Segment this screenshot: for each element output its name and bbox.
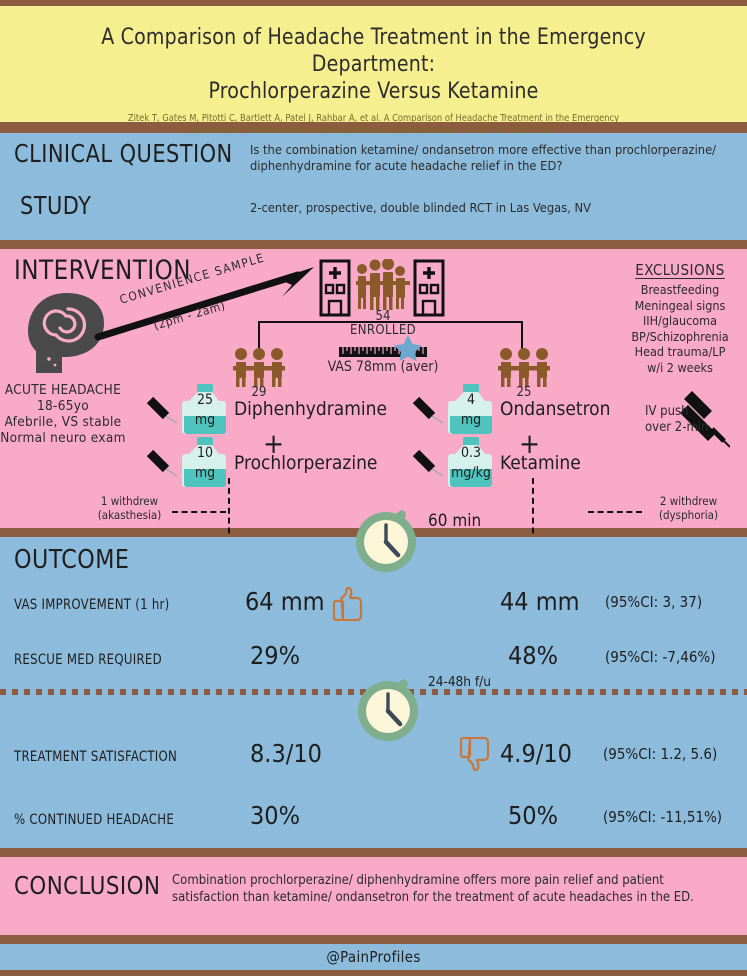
arm-left-people-icon bbox=[231, 347, 287, 387]
arm-left-drug1-unit: mg bbox=[182, 412, 228, 428]
poster-title: A Comparison of Headache Treatment in th… bbox=[15, 24, 732, 105]
arm-right-drug2-name: Ketamine bbox=[500, 452, 581, 474]
withdrew-right-line1: 2 withdrew bbox=[641, 494, 736, 508]
syringe-icon-right-1 bbox=[412, 396, 446, 424]
syringe-icon-left-2 bbox=[146, 449, 180, 477]
outcome-row-0-ci: (95%CI: 3, 37) bbox=[605, 593, 702, 611]
outcome-row-3-label: % CONTINUED HEADACHE bbox=[14, 812, 174, 828]
outcome-row-3-right-value: 50% bbox=[508, 801, 558, 830]
arm-right-people-icon bbox=[496, 347, 552, 387]
arm-right-drug2-dose: 0.3 bbox=[448, 445, 494, 461]
arm-left-drug2-dose: 10 bbox=[182, 445, 228, 461]
exclusions-list: Breastfeeding Meningeal signs IIH/glauco… bbox=[615, 282, 745, 375]
outcome-row-1-right-value: 48% bbox=[508, 641, 558, 670]
conclusion-text: Combination prochlorperazine/ diphenhydr… bbox=[172, 872, 732, 906]
connector-left-vertical bbox=[258, 321, 260, 349]
connector-right-vertical bbox=[521, 321, 523, 349]
patient-criteria-line2: 18-65yo bbox=[0, 398, 126, 414]
arm-right-drug2-unit: mg/kg bbox=[446, 465, 496, 481]
exclusion-item-2: IIH/glaucoma bbox=[615, 313, 745, 329]
outcome-heading: OUTCOME bbox=[14, 545, 129, 575]
outcome-row-2-ci: (95%CI: 1.2, 5.6) bbox=[603, 745, 717, 763]
outcome-row-0-left-value: 64 mm bbox=[245, 587, 325, 616]
enrolled-people-icon bbox=[354, 259, 412, 311]
withdrew-left-line1: 1 withdrew bbox=[82, 494, 177, 508]
study-heading: STUDY bbox=[20, 191, 91, 220]
thumbs-down-icon bbox=[457, 737, 495, 771]
followup-label: 24-48h f/u bbox=[428, 674, 491, 690]
patient-criteria-line3: Afebrile, VS stable bbox=[0, 414, 126, 430]
exclusion-item-0: Breastfeeding bbox=[615, 282, 745, 298]
clinical-question-heading: CLINICAL QUESTION bbox=[14, 139, 233, 168]
withdrew-right-dash bbox=[588, 511, 642, 513]
poster-title-line1: A Comparison of Headache Treatment in th… bbox=[44, 24, 704, 78]
vas-ruler-icon bbox=[337, 335, 429, 361]
patient-criteria-line4: Normal neuro exam bbox=[0, 430, 126, 446]
footer-handle: @PainProfiles bbox=[0, 944, 747, 970]
vas-average-label: VAS 78mm (aver) bbox=[318, 359, 448, 375]
exclusion-item-1: Meningeal signs bbox=[615, 298, 745, 314]
arm-left-drug2-unit: mg bbox=[182, 465, 228, 481]
connector-horizontal bbox=[258, 321, 523, 323]
footer-section: @PainProfiles bbox=[0, 944, 747, 970]
clinical-question-section: CLINICAL QUESTION Is the combination ket… bbox=[0, 133, 747, 240]
arm-right-drug1-name: Ondansetron bbox=[500, 398, 610, 420]
withdrew-right-label: 2 withdrew (dysphoria) bbox=[641, 494, 736, 522]
clinical-question-text: Is the combination ketamine/ ondansetron… bbox=[250, 143, 735, 175]
infographic-poster: A Comparison of Headache Treatment in th… bbox=[0, 0, 747, 976]
syringe-icon-right-2 bbox=[412, 449, 446, 477]
outcome-row-3-left-value: 30% bbox=[250, 801, 300, 830]
iv-push-label: IV push over 2-min bbox=[645, 404, 709, 436]
outcome-row-2-right-value: 4.9/10 bbox=[500, 739, 572, 768]
exclusion-item-4: Head trauma/LP bbox=[615, 344, 745, 360]
outcome-row-0-label: VAS IMPROVEMENT (1 hr) bbox=[14, 597, 169, 613]
outcome-row-2-left-value: 8.3/10 bbox=[250, 739, 322, 768]
arm-right-drug1-dose: 4 bbox=[448, 392, 494, 408]
study-text: 2-center, prospective, double blinded RC… bbox=[250, 201, 735, 217]
clock-icon-followup bbox=[354, 673, 422, 745]
exclusion-item-3: BP/Schizophrenia bbox=[615, 329, 745, 345]
withdrew-left-line2: (akasthesia) bbox=[82, 508, 177, 522]
iv-push-line1: IV push bbox=[645, 404, 709, 420]
conclusion-heading: CONCLUSION bbox=[14, 871, 160, 900]
outcome-row-1-label: RESCUE MED REQUIRED bbox=[14, 652, 162, 668]
clock-icon-60min bbox=[352, 506, 420, 574]
timer-60min-label: 60 min bbox=[428, 511, 481, 531]
outcome-row-3-ci: (95%CI: -11,51%) bbox=[603, 808, 722, 826]
syringe-icon-left-1 bbox=[146, 396, 180, 424]
outcome-row-2-label: TREATMENT SATISFACTION bbox=[14, 749, 177, 765]
poster-title-line2: Prochlorperazine Versus Ketamine bbox=[44, 78, 704, 105]
conclusion-section: CONCLUSION Combination prochlorperazine/… bbox=[0, 857, 747, 935]
title-section: A Comparison of Headache Treatment in th… bbox=[0, 6, 747, 122]
arm-right-drug1-unit: mg bbox=[448, 412, 494, 428]
arm-left-drug1-name: Diphenhydramine bbox=[234, 398, 387, 420]
outcome-row-0-right-value: 44 mm bbox=[500, 587, 580, 616]
citation-line1: Zitek T, Gates M, Pitotti C, Bartlett A,… bbox=[46, 113, 701, 125]
withdrew-left-dash bbox=[172, 511, 226, 513]
arm-left-drug1-dose: 25 bbox=[182, 392, 228, 408]
thumbs-up-icon bbox=[330, 587, 368, 621]
patient-criteria: ACUTE HEADACHE 18-65yo Afebrile, VS stab… bbox=[0, 382, 126, 446]
outcome-row-1-ci: (95%CI: -7,46%) bbox=[605, 648, 716, 666]
exclusions-heading: EXCLUSIONS bbox=[615, 261, 745, 279]
withdrew-right-line2: (dysphoria) bbox=[641, 508, 736, 522]
outcome-row-1-left-value: 29% bbox=[250, 641, 300, 670]
arm-left-drug2-name: Prochlorperazine bbox=[234, 452, 377, 474]
patient-criteria-line1: ACUTE HEADACHE bbox=[0, 382, 126, 398]
intervention-section: INTERVENTION ACUTE HEADACHE 18-65yo Afeb… bbox=[0, 249, 747, 528]
iv-push-line2: over 2-min bbox=[645, 420, 709, 436]
exclusion-item-5: w/i 2 weeks bbox=[615, 360, 745, 376]
withdrew-left-label: 1 withdrew (akasthesia) bbox=[82, 494, 177, 522]
